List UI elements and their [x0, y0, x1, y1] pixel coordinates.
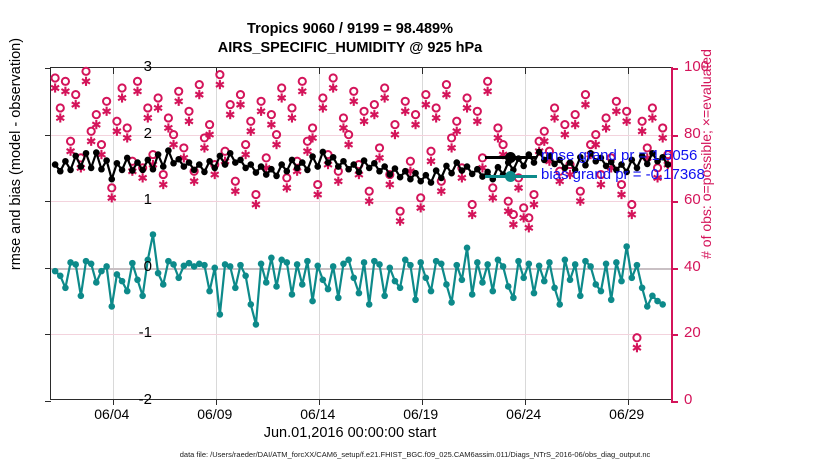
obs-evaluated-marker [231, 187, 239, 196]
data-point [57, 272, 64, 279]
data-point [108, 303, 115, 310]
data-point [546, 259, 553, 266]
data-point [361, 157, 368, 164]
obs-evaluated-marker [463, 103, 471, 112]
obs-evaluated-marker [648, 113, 656, 122]
data-point [489, 288, 496, 295]
data-point [459, 167, 466, 174]
series-canvas [51, 68, 673, 401]
data-point [93, 149, 100, 156]
data-point [268, 255, 275, 262]
data-point [155, 151, 162, 158]
data-point [438, 175, 445, 182]
data-point [402, 168, 409, 175]
data-point [412, 170, 419, 177]
obs-evaluated-marker [87, 137, 95, 146]
data-point [78, 163, 85, 170]
obs-possible-marker [494, 124, 501, 131]
data-point [289, 157, 296, 164]
data-point [237, 262, 244, 269]
data-point [134, 159, 141, 166]
data-point [644, 303, 651, 310]
data-point [464, 163, 471, 170]
obs-possible-marker [237, 91, 244, 98]
data-point [227, 263, 234, 270]
obs-evaluated-marker [273, 140, 281, 149]
obs-evaluated-marker [530, 200, 538, 209]
obs-possible-marker [232, 178, 239, 185]
data-point [536, 263, 543, 270]
obs-evaluated-marker [448, 143, 456, 152]
data-point [361, 259, 368, 266]
data-point [500, 263, 507, 270]
data-point [170, 160, 177, 167]
data-point [273, 173, 280, 180]
data-point [284, 168, 291, 175]
obs-evaluated-marker [432, 113, 440, 122]
obs-evaluated-marker [633, 343, 641, 352]
obs-possible-marker [463, 94, 470, 101]
obs-evaluated-marker [417, 203, 425, 212]
data-point [567, 276, 574, 283]
obs-possible-marker [247, 118, 254, 125]
obs-evaluated-marker [139, 173, 147, 182]
data-point [335, 163, 342, 170]
data-point [350, 274, 357, 281]
y-tick-label-left: 1 [112, 191, 152, 208]
data-point [72, 153, 79, 160]
obs-possible-marker [402, 98, 409, 105]
y-tick-left [45, 401, 51, 402]
data-point [232, 284, 239, 291]
data-point [423, 274, 430, 281]
data-point [335, 294, 342, 301]
obs-evaluated-marker [82, 77, 90, 86]
data-point [268, 166, 275, 173]
obs-possible-marker [252, 191, 259, 198]
obs-possible-marker [175, 88, 182, 95]
obs-possible-marker [448, 134, 455, 141]
obs-evaluated-marker [72, 100, 80, 109]
data-point [577, 292, 584, 299]
obs-possible-marker [134, 78, 141, 85]
data-point [217, 311, 224, 318]
obs-possible-marker [345, 131, 352, 138]
obs-evaluated-marker [267, 120, 275, 129]
obs-possible-marker [453, 118, 460, 125]
data-point [618, 278, 625, 285]
right-axis-spine [671, 67, 673, 401]
obs-evaluated-marker [61, 87, 69, 96]
data-point [356, 290, 363, 297]
data-point [227, 150, 234, 157]
obs-evaluated-marker [581, 100, 589, 109]
obs-possible-marker [257, 98, 264, 105]
obs-evaluated-marker [200, 143, 208, 152]
obs-evaluated-marker [170, 140, 178, 149]
title-line-1: Tropics 9060 / 9199 = 98.489% [0, 20, 700, 39]
obs-evaluated-marker [386, 180, 394, 189]
obs-evaluated-marker [175, 97, 183, 106]
obs-evaluated-marker [154, 103, 162, 112]
data-point [520, 274, 527, 281]
obs-possible-marker [427, 148, 434, 155]
data-point [294, 261, 301, 268]
obs-possible-marker [613, 98, 620, 105]
data-point [150, 166, 157, 173]
obs-possible-marker [263, 154, 270, 161]
data-point [211, 165, 218, 172]
obs-possible-marker [314, 181, 321, 188]
data-point [387, 171, 394, 178]
y-tick-right [671, 401, 678, 403]
data-point [119, 167, 126, 174]
chart-figure: Tropics 9060 / 9199 = 98.489% AIRS_SPECI… [0, 0, 830, 470]
data-point [170, 261, 177, 268]
obs-evaluated-series [51, 77, 672, 353]
data-point [366, 165, 373, 172]
data-point [222, 161, 229, 168]
obs-possible-marker [443, 81, 450, 88]
data-point [119, 278, 126, 285]
obs-possible-marker [268, 111, 275, 118]
data-point [175, 274, 182, 281]
data-point [603, 261, 610, 268]
data-point [72, 261, 79, 268]
obs-evaluated-marker [422, 100, 430, 109]
obs-evaluated-marker [618, 190, 626, 199]
data-point [52, 268, 59, 275]
chart-title: Tropics 9060 / 9199 = 98.489% AIRS_SPECI… [0, 20, 700, 58]
data-point [201, 262, 208, 269]
data-point [453, 262, 460, 269]
obs-possible-marker [170, 131, 177, 138]
data-point [314, 263, 321, 270]
data-point [407, 176, 414, 183]
obs-possible-marker [227, 101, 234, 108]
obs-evaluated-marker [103, 107, 111, 116]
data-point [247, 301, 254, 308]
data-point [392, 165, 399, 172]
x-tick-label: 06/19 [386, 406, 456, 422]
obs-possible-marker [417, 194, 424, 201]
data-point [366, 301, 373, 308]
data-point [62, 158, 69, 165]
data-point [155, 270, 162, 277]
data-point [505, 283, 512, 290]
obs-evaluated-marker [314, 190, 322, 199]
data-point [88, 261, 95, 268]
data-point [217, 153, 224, 160]
obs-possible-marker [273, 131, 280, 138]
data-point [371, 160, 378, 167]
obs-evaluated-marker [236, 100, 244, 109]
data-point [304, 258, 311, 265]
data-point [124, 155, 131, 162]
data-point [145, 157, 152, 164]
data-point [320, 149, 327, 156]
obs-possible-marker [309, 124, 316, 131]
data-point [340, 261, 347, 268]
obs-evaluated-marker [118, 93, 126, 102]
obs-evaluated-marker [226, 110, 234, 119]
obs-possible-marker [283, 174, 290, 181]
title-line-2: AIRS_SPECIFIC_HUMIDITY @ 925 hPa [0, 39, 700, 58]
data-point [57, 168, 64, 175]
data-point [448, 170, 455, 177]
data-point [423, 172, 430, 179]
data-point [98, 268, 105, 275]
obs-evaluated-marker [401, 107, 409, 116]
obs-evaluated-marker [561, 130, 569, 139]
data-point [330, 154, 337, 161]
obs-evaluated-marker [370, 110, 378, 119]
data-point [201, 169, 208, 176]
legend-item: rmse grand pr = 1.5056 [481, 148, 731, 167]
data-point [175, 156, 182, 163]
data-point [309, 298, 316, 305]
data-point [531, 290, 538, 297]
obs-possible-marker [67, 138, 74, 145]
data-point [325, 286, 332, 293]
data-point [98, 166, 105, 173]
obs-possible-marker [433, 104, 440, 111]
obs-possible-marker [242, 141, 249, 148]
data-point [52, 161, 59, 168]
obs-possible-marker [422, 91, 429, 98]
obs-possible-marker [196, 81, 203, 88]
data-point [181, 163, 188, 170]
obs-possible-marker [103, 98, 110, 105]
obs-evaluated-marker [252, 200, 260, 209]
obs-possible-marker [381, 84, 388, 91]
plot-area: rmse grand pr = 1.5056bias grand pr = -0… [50, 67, 672, 400]
obs-evaluated-marker [473, 117, 481, 126]
x-axis-title: Jun.01,2016 00:00:00 start [0, 425, 700, 441]
obs-possible-marker [160, 171, 167, 178]
data-point [78, 292, 85, 299]
obs-evaluated-marker [195, 90, 203, 99]
data-point [114, 160, 121, 167]
y-tick-label-left: -2 [112, 391, 152, 408]
obs-evaluated-marker [283, 183, 291, 192]
data-point [541, 278, 548, 285]
data-point [237, 157, 244, 164]
x-tick-label: 06/04 [77, 406, 147, 422]
obs-evaluated-marker [360, 117, 368, 126]
obs-evaluated-marker [396, 217, 404, 226]
x-tick-label: 06/29 [592, 406, 662, 422]
data-point [448, 299, 455, 306]
obs-possible-marker [551, 104, 558, 111]
legend-label: bias grand pr = -0.17368 [541, 166, 705, 183]
y-tick-label-left: 3 [112, 58, 152, 75]
obs-possible-marker [639, 118, 646, 125]
obs-evaluated-marker [365, 197, 373, 206]
obs-possible-marker [299, 78, 306, 85]
obs-possible-marker [144, 104, 151, 111]
data-point [510, 294, 517, 301]
data-point [273, 283, 280, 290]
obs-evaluated-marker [185, 117, 193, 126]
data-point [474, 166, 481, 173]
data-point [526, 261, 533, 268]
data-point [350, 161, 357, 168]
y-tick-label-left: 2 [112, 125, 152, 142]
obs-possible-marker [659, 124, 666, 131]
data-point [397, 284, 404, 291]
data-point [443, 163, 450, 170]
data-point [443, 281, 450, 288]
data-point [469, 291, 476, 298]
obs-evaluated-marker [51, 83, 59, 92]
obs-evaluated-marker [458, 173, 466, 182]
data-file-footer: data file: /Users/raeder/DAI/ATM_forcXX/… [0, 450, 830, 459]
data-point [139, 292, 146, 299]
x-tick-label: 06/09 [180, 406, 250, 422]
y-tick-label-left: -1 [112, 324, 152, 341]
x-tick-label: 06/24 [489, 406, 559, 422]
data-point [428, 288, 435, 295]
data-point [376, 168, 383, 175]
data-point [438, 261, 445, 268]
obs-possible-marker [165, 114, 172, 121]
data-point [150, 231, 157, 238]
obs-possible-marker [649, 104, 656, 111]
obs-evaluated-marker [381, 93, 389, 102]
obs-possible-marker [330, 74, 337, 81]
obs-evaluated-marker [623, 117, 631, 126]
data-point [160, 163, 167, 170]
obs-evaluated-marker [412, 120, 420, 129]
data-point [294, 165, 301, 172]
data-point [83, 150, 90, 157]
data-point [314, 163, 321, 170]
data-point [587, 263, 594, 270]
data-point [659, 301, 666, 308]
data-point [299, 159, 306, 166]
data-point [464, 245, 471, 252]
obs-possible-marker [57, 104, 64, 111]
data-point [562, 257, 569, 264]
data-point [325, 159, 332, 166]
data-point [376, 261, 383, 268]
obs-possible-marker [278, 84, 285, 91]
data-point [108, 176, 115, 183]
obs-evaluated-marker [247, 127, 255, 136]
obs-possible-marker [371, 101, 378, 108]
data-point [320, 276, 327, 283]
data-point [397, 174, 404, 181]
data-point [258, 163, 265, 170]
data-point [469, 171, 476, 178]
obs-possible-marker [572, 111, 579, 118]
obs-possible-marker [412, 111, 419, 118]
data-point [474, 259, 481, 266]
obs-possible-marker [82, 68, 89, 75]
data-point [556, 301, 563, 308]
data-point [247, 161, 254, 168]
data-point [258, 261, 265, 268]
data-point [309, 153, 316, 160]
obs-evaluated-marker [551, 113, 559, 122]
data-point [134, 276, 141, 283]
obs-evaluated-marker [345, 140, 353, 149]
obs-evaluated-marker [334, 177, 342, 186]
data-point [191, 167, 198, 174]
data-point [649, 292, 656, 299]
data-point [211, 265, 218, 272]
obs-possible-marker [469, 201, 476, 208]
data-point [345, 166, 352, 173]
obs-evaluated-marker [437, 187, 445, 196]
data-point [289, 291, 296, 298]
obs-evaluated-marker [442, 90, 450, 99]
obs-evaluated-marker [329, 83, 337, 92]
data-point [206, 288, 213, 295]
obs-evaluated-marker [211, 170, 219, 179]
data-point [340, 158, 347, 165]
obs-evaluated-marker [628, 210, 636, 219]
data-point [613, 259, 620, 266]
obs-evaluated-marker [56, 113, 64, 122]
data-point [165, 147, 172, 154]
obs-possible-marker [206, 121, 213, 128]
data-point [515, 258, 522, 265]
obs-possible-marker [407, 158, 414, 165]
data-point [551, 284, 558, 291]
obs-possible-marker [93, 111, 100, 118]
data-point [263, 279, 270, 286]
obs-evaluated-marker [525, 223, 533, 232]
obs-possible-marker [180, 144, 187, 151]
obs-evaluated-marker [216, 80, 224, 89]
obs-evaluated-marker [602, 123, 610, 132]
obs-possible-marker [340, 114, 347, 121]
data-point [304, 167, 311, 174]
data-point [88, 165, 95, 172]
obs-possible-marker [216, 71, 223, 78]
obs-possible-marker [505, 198, 512, 205]
data-point [412, 296, 419, 303]
obs-evaluated-marker [288, 113, 296, 122]
data-point [392, 278, 399, 285]
data-point [479, 279, 486, 286]
data-point [62, 284, 69, 291]
data-point [598, 288, 605, 295]
data-point [206, 158, 213, 165]
data-point [330, 263, 337, 270]
obs-evaluated-marker [298, 87, 306, 96]
data-point [345, 257, 352, 264]
obs-evaluated-marker [612, 107, 620, 116]
obs-possible-marker [376, 144, 383, 151]
y-axis-title-right: # of obs: o=possible; ×=evaluated [698, 0, 714, 384]
legend-marker-icon [505, 152, 516, 163]
obs-evaluated-marker [576, 197, 584, 206]
obs-possible-marker [366, 188, 373, 195]
data-point [160, 281, 167, 288]
data-point [253, 321, 260, 328]
obs-possible-marker [154, 94, 161, 101]
obs-possible-marker [319, 94, 326, 101]
data-point [278, 161, 285, 168]
obs-evaluated-marker [489, 193, 497, 202]
data-point [459, 276, 466, 283]
data-point [623, 243, 630, 250]
obs-possible-marker [98, 141, 105, 148]
obs-possible-marker [52, 74, 59, 81]
